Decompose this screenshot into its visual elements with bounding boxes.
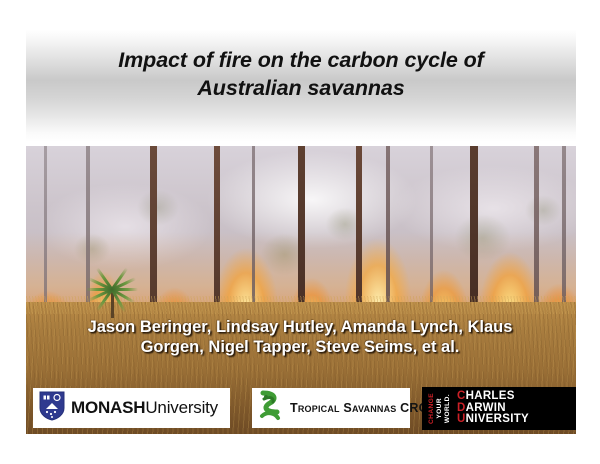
cdu-tagline: CHANGE YOUR WORLD. [428, 391, 452, 427]
tropical-savannas-wordmark: Tropical Savannas CRC [290, 401, 428, 415]
cdu-tagline-line-2: YOUR [436, 398, 444, 419]
cdu-initial-d: D [457, 402, 466, 414]
title-line-2: Australian savannas [26, 74, 576, 102]
presentation-slide: Impact of fire on the carbon cycle of Au… [0, 0, 600, 464]
tropical-savannas-crc-logo: Tropical Savannas CRC [252, 388, 410, 428]
cdu-tagline-line-1: CHANGE [428, 393, 436, 424]
monash-light-word: University [145, 398, 218, 417]
tropical-savannas-mark-icon [257, 390, 285, 427]
author-line-1: Jason Beringer, Lindsay Hutley, Amanda L… [40, 318, 560, 338]
title-line-1: Impact of fire on the carbon cycle of [26, 46, 576, 74]
cdu-initial-u: U [457, 413, 466, 425]
cdu-rest-charles: HARLES [466, 390, 515, 402]
cdu-rest-darwin: ARWIN [466, 402, 506, 414]
charles-darwin-university-logo: CHANGE YOUR WORLD. CHARLES DARWIN UNIVER… [422, 387, 576, 430]
author-list: Jason Beringer, Lindsay Hutley, Amanda L… [40, 318, 560, 358]
cdu-rest-university: NIVERSITY [466, 413, 529, 425]
cdu-name-line-3: UNIVERSITY [457, 414, 529, 426]
monash-wordmark: MONASHUniversity [71, 398, 218, 418]
monash-shield-crest-icon [39, 391, 65, 426]
cdu-wordmark: CHARLES DARWIN UNIVERSITY [457, 391, 529, 426]
cycad-palm [82, 258, 142, 318]
cdu-tagline-line-3: WORLD. [444, 394, 452, 423]
monash-university-logo: MONASHUniversity [33, 388, 230, 428]
monash-bold-word: MONASH [71, 398, 145, 417]
author-line-2: Gorgen, Nigel Tapper, Steve Seims, et al… [40, 338, 560, 358]
cdu-initial-c: C [457, 390, 466, 402]
page-title: Impact of fire on the carbon cycle of Au… [26, 46, 576, 103]
